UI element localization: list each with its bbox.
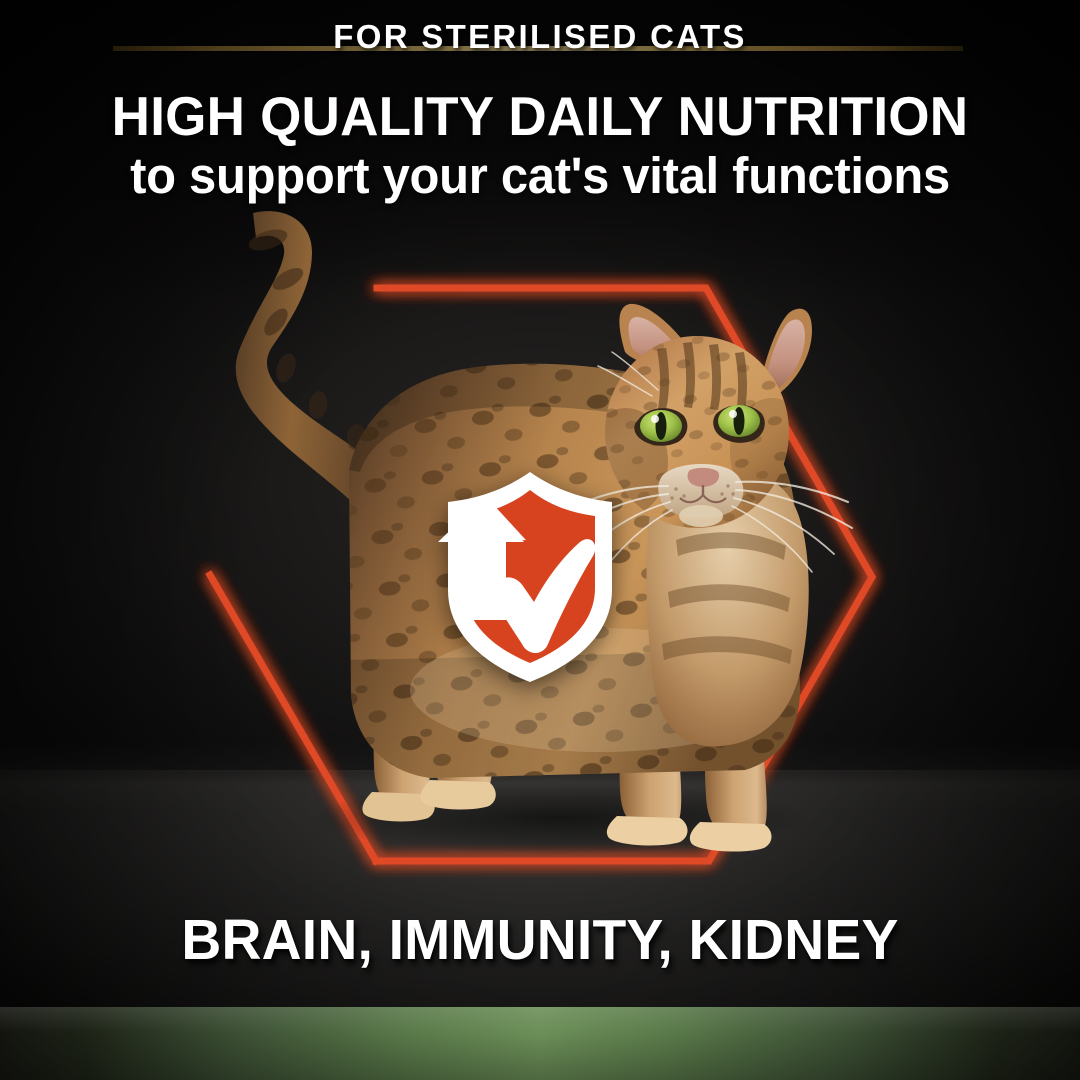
benefits-headline: BRAIN, IMMUNITY, KIDNEY (16, 908, 1064, 972)
header-text-block: HIGH QUALITY DAILY NUTRITION to support … (0, 86, 1080, 205)
promotional-poster: HIGH QUALITY DAILY NUTRITION to support … (0, 0, 1080, 1080)
shield-check-badge (424, 468, 636, 686)
page-title: HIGH QUALITY DAILY NUTRITION (19, 86, 1061, 146)
page-subtitle: to support your cat's vital functions (22, 147, 1059, 205)
footer-band (0, 1007, 1080, 1080)
studio-horizon-line (0, 742, 1080, 812)
footer-label: FOR STERILISED CATS (0, 0, 1080, 73)
